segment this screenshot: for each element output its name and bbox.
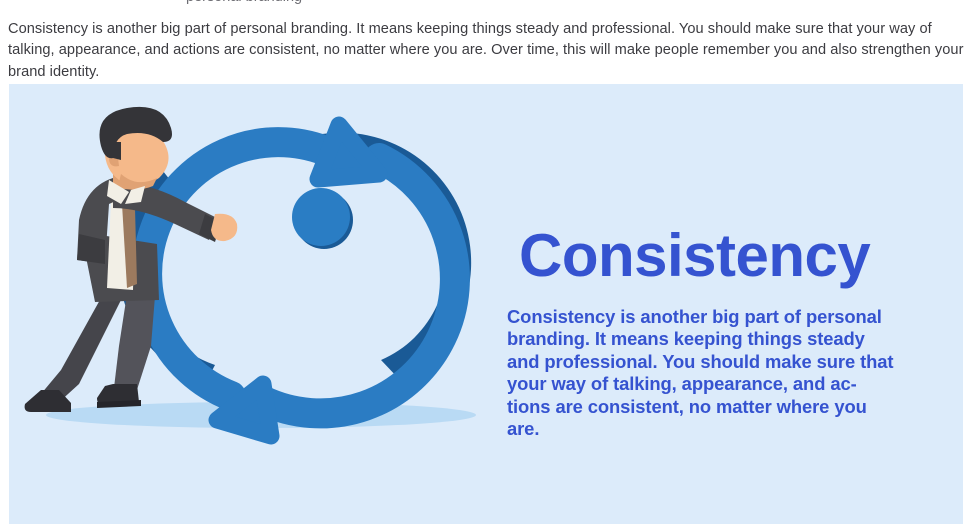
businessman-front-leg	[113, 294, 155, 396]
cycle-center-dot	[292, 188, 350, 246]
consistency-callout-card: Consistency Consistency is another big p…	[9, 84, 963, 524]
cycle-arrow-lower-arc	[262, 158, 455, 413]
card-body-line: branding. It means keeping things steady	[507, 328, 925, 350]
intro-paragraph: Consistency is another big part of perso…	[8, 19, 966, 84]
businessman-hair-sideburn	[113, 142, 121, 160]
clipped-top-text-fragment: personal branding	[0, 0, 972, 4]
cycle-arrow-head-top-right	[318, 125, 383, 184]
card-body-line: your way of talking, appearance, and ac-	[507, 373, 925, 395]
card-copy-block: Consistency Consistency is another big p…	[507, 224, 937, 440]
cycle-arrow-upper-arc	[147, 142, 326, 396]
cycle-arrow-group	[118, 125, 472, 440]
card-body-line: and professional. You should make sure t…	[507, 351, 925, 373]
card-body-line: tions are consistent, no matter where yo…	[507, 396, 925, 418]
illustration-businessman-pushing-cycle	[9, 84, 499, 524]
cycle-illustration-svg	[9, 84, 499, 524]
card-body-line: Consistency is another big part of perso…	[507, 306, 925, 328]
businessman-hand	[211, 214, 237, 241]
card-headline: Consistency	[519, 224, 937, 288]
card-body-line: are.	[507, 418, 925, 440]
card-body-paragraph: Consistency is another big part of perso…	[507, 306, 925, 440]
